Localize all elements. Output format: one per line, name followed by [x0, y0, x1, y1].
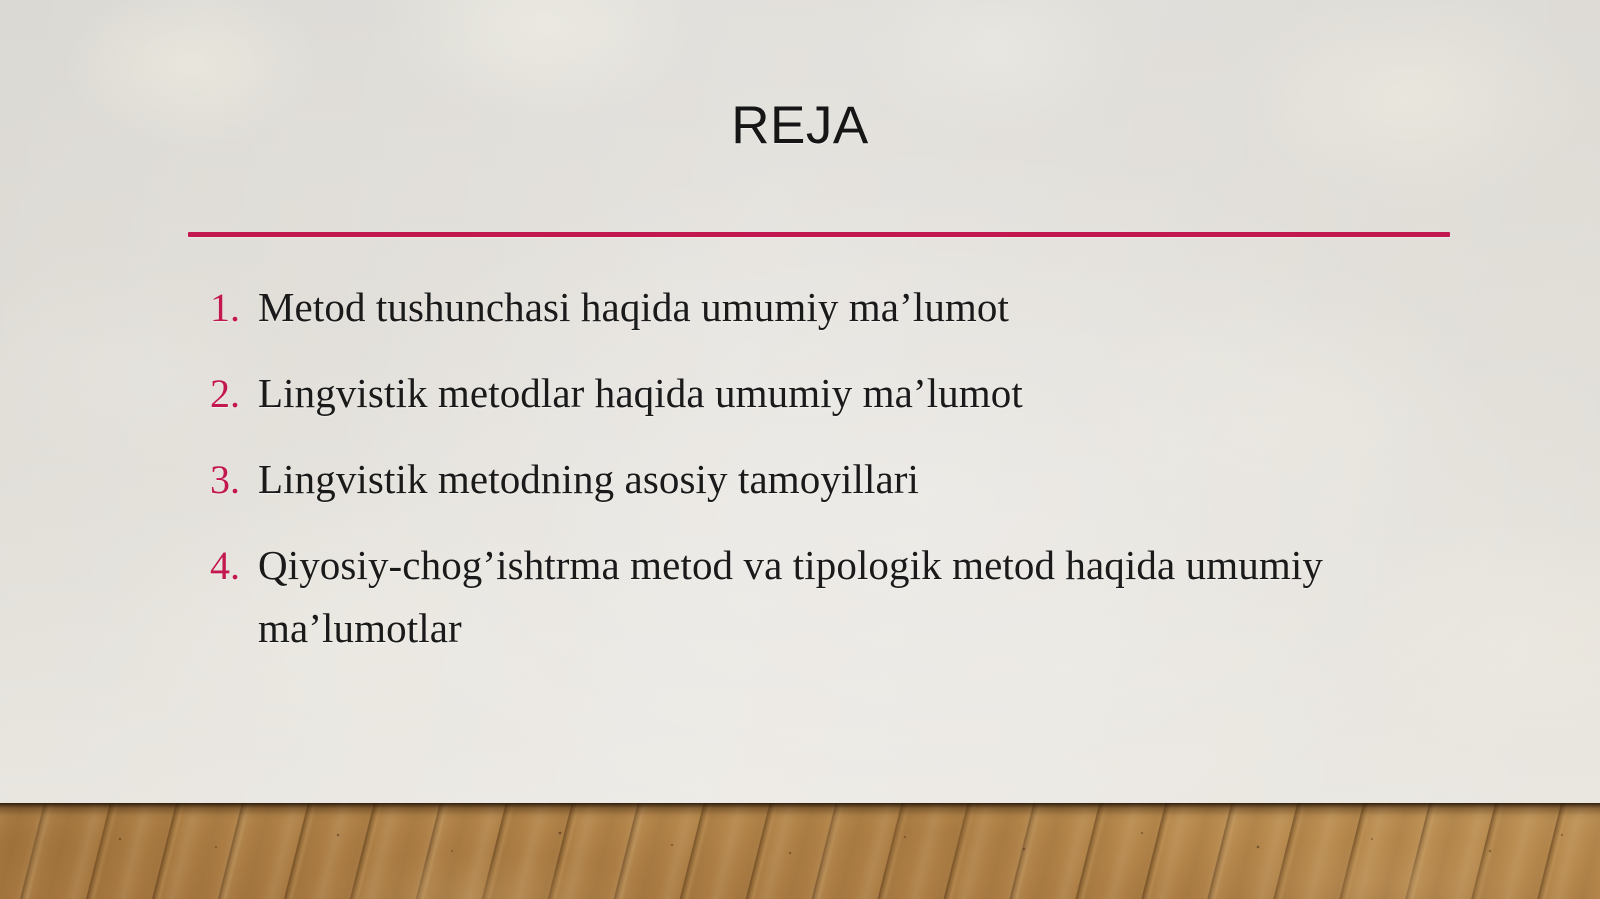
list-item-number: 2. [190, 362, 245, 425]
list-item-number: 4. [190, 534, 245, 597]
floor-wood-grain [0, 803, 1600, 899]
list-item: 1. Metod tushunchasi haqida umumiy ma’lu… [190, 276, 1490, 339]
title-divider-line [188, 232, 1450, 237]
list-item: 2. Lingvistik metodlar haqida umumiy ma’… [190, 362, 1490, 425]
list-item: 3. Lingvistik metodning asosiy tamoyilla… [190, 448, 1490, 511]
list-item-number: 3. [190, 448, 245, 511]
list-item: 4. Qiyosiy-chog’ishtrma metod va tipolog… [190, 534, 1490, 660]
wooden-floor [0, 803, 1600, 899]
list-item-number: 1. [190, 276, 245, 339]
slide-title: REJA [0, 96, 1600, 157]
list-item-label: Metod tushunchasi haqida umumiy ma’lumot [245, 276, 1490, 339]
list-item-label: Lingvistik metodlar haqida umumiy ma’lum… [245, 362, 1490, 425]
list-item-label: Qiyosiy-chog’ishtrma metod va tipologik … [245, 534, 1490, 660]
presentation-slide: REJA 1. Metod tushunchasi haqida umumiy … [0, 0, 1600, 899]
agenda-list: 1. Metod tushunchasi haqida umumiy ma’lu… [190, 276, 1490, 683]
list-item-label: Lingvistik metodning asosiy tamoyillari [245, 448, 1490, 511]
